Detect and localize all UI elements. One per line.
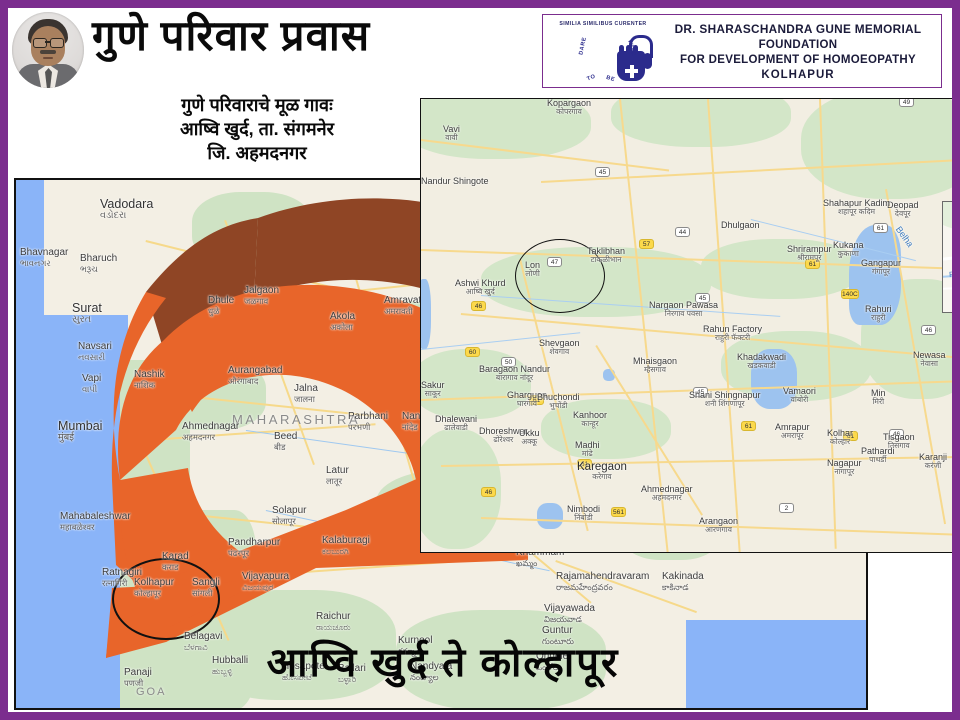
- map-label: Rajamahendravaramరాజమహేంద్రవరం: [556, 572, 649, 591]
- map-label-kolhapur: Kolhapurकोल्हापूर: [134, 578, 174, 597]
- district-label: Kukanaकुकाणा: [833, 241, 864, 258]
- district-label: Pathardiपाथर्डी: [861, 447, 895, 464]
- district-label: Amrapurअमरापूर: [775, 423, 810, 440]
- map-label: Mahabaleshwarमहाबळेश्वर: [60, 512, 131, 531]
- map-label: Beedबीड: [274, 432, 297, 451]
- map-label: Dhuleधुळे: [208, 296, 234, 315]
- district-label: Kanhoorकान्हूर: [573, 411, 607, 428]
- district-label: Gangapurगंगापूर: [861, 259, 901, 276]
- district-label: Karanjiकरंजी: [919, 453, 947, 470]
- map-label: Pandharpurपंढरपूर: [228, 538, 280, 557]
- map-label: Vijayapuraವಿಜಯಪುರ: [242, 572, 289, 591]
- district-label: Shevgaonशेवगाव: [539, 339, 580, 356]
- district-label: Bhuchondiभुचोंडी: [537, 393, 580, 410]
- highway-shield: 140C: [841, 289, 859, 299]
- highway-shield: 61: [741, 421, 756, 431]
- district-label: Vamaoriवांबोरी: [783, 387, 816, 404]
- district-label: Dhulgaon: [721, 221, 760, 230]
- map-label: Raichurರಾಯಚೂರು: [316, 612, 351, 631]
- highway-shield: 49: [899, 98, 914, 107]
- state-label-maharashtra: MAHARASHTRA: [232, 412, 360, 427]
- emblem-motto-latin: SIMILIA SIMILIBUS CURENTER: [551, 21, 655, 27]
- highway-shield: 60: [465, 347, 480, 357]
- foundation-emblem-icon: SIMILIA SIMILIBUS CURENTER DARE TO BE WI…: [549, 19, 657, 83]
- map-label: Kakinadaకాకినాడ: [662, 572, 704, 591]
- district-label: Minमिरी: [871, 389, 886, 406]
- district-label: Shahapur Kadimशहापूर कदिम: [823, 199, 890, 216]
- map-label: Jalgaonजळगाव: [244, 286, 279, 305]
- map-label: Bharuchભરૂચ: [80, 254, 117, 273]
- highway-shield: 561: [611, 507, 626, 517]
- emblem-word-to: TO: [586, 74, 596, 83]
- foundation-line-2: FOUNDATION: [661, 38, 935, 53]
- district-label: Nandur Shingote: [421, 177, 489, 186]
- map-label: Vadodaraવડોદરા: [100, 198, 153, 221]
- map-label: Akolaअकोला: [330, 312, 355, 331]
- district-label: Sakurसाकूर: [421, 381, 445, 398]
- district-label: Deopadदेवपूर: [887, 201, 919, 218]
- map-label: Vapiવાપી: [82, 374, 101, 393]
- district-label: Mhaisgaonम्हैसगाव: [633, 357, 677, 374]
- district-label: Rahuriराहुरी: [865, 305, 892, 322]
- district-label: Taklibhanटाकळीभान: [587, 247, 625, 264]
- street-inset-map[interactable]: clinic ashwi bk श्री साई डेंटल क्लिनिक..…: [942, 201, 952, 313]
- header: गुणे परिवार प्रवास गुणे परिवाराचे मूळ गा…: [8, 8, 952, 96]
- map-label: Nashikनाशिक: [134, 370, 165, 389]
- highway-shield: 2: [779, 503, 794, 513]
- map-label: Laturलातूर: [326, 466, 349, 485]
- subtitle-block: गुणे परिवाराचे मूळ गावः आष्वि खुर्द, ता.…: [92, 94, 422, 165]
- district-label: Shani Shingnapurशनी शिंगणापूर: [689, 391, 761, 408]
- highway-shield: 61: [873, 223, 888, 233]
- subtitle-line-2: आष्वि खुर्द, ता. संगमनेर: [92, 118, 422, 142]
- district-label-ahmednagar: Karegaonकरेगाव: [577, 461, 627, 481]
- map-label: Vijayawadaవిజయవాడ: [544, 604, 595, 623]
- district-label: Kopargaonकोपरगाव: [547, 99, 591, 116]
- page-title: गुणे परिवार प्रवास: [92, 14, 522, 58]
- bottom-caption: आष्वि खुर्द ते कोल्हापूर: [16, 633, 868, 688]
- foundation-line-3: FOR DEVELOPMENT OF HOMOEOPATHY: [661, 53, 935, 68]
- foundation-line-1: DR. SHARASCHANDRA GUNE MEMORIAL: [661, 22, 935, 38]
- map-label: Sangliसांगली: [192, 578, 220, 597]
- highway-shield: 46: [481, 487, 496, 497]
- map-label: Mumbaiमुंबई: [58, 420, 102, 443]
- district-label-ashwi-khurd: Lonलोणी: [525, 261, 540, 278]
- subtitle-line-3: जि. अहमदनगर: [92, 142, 422, 166]
- district-label: Ukkuअक्कू: [519, 429, 540, 446]
- avatar: [12, 12, 84, 88]
- district-label: Ashwi Khurdआष्वि खुर्द: [455, 279, 506, 296]
- map-label: Solapurसोलापूर: [272, 506, 306, 525]
- district-label: Nargaon Pawasaनिरगाव पवसा: [649, 301, 718, 318]
- district-label: Newasaनेवासा: [913, 351, 946, 368]
- map-label: Parbhaniपरभणी: [348, 412, 388, 431]
- highway-shield: 46: [921, 325, 936, 335]
- map-label: Navsariનવસારી: [78, 342, 112, 361]
- district-label: Madhiमांढे: [575, 441, 600, 458]
- foundation-name: DR. SHARASCHANDRA GUNE MEMORIAL FOUNDATI…: [661, 22, 935, 83]
- foundation-line-4: KOLHAPUR: [661, 68, 935, 83]
- map-label: Aurangabadऔरंगाबाद: [228, 366, 283, 385]
- map-label: Kalaburagiಕಲಬುರಗಿ: [322, 536, 370, 555]
- map-label: Ahmednagarअहमदनगर: [182, 422, 239, 441]
- district-label: Baragaon Nandurबारागाव नांदूर: [479, 365, 550, 382]
- district-label: Dhalewaniढालेवाडी: [435, 415, 477, 432]
- highway-shield: 44: [675, 227, 690, 237]
- district-label: Rahun Factoryराहुरी फॅक्टरी: [703, 325, 762, 342]
- highway-shield: 46: [471, 301, 486, 311]
- map-label: Jalnaजालना: [294, 384, 318, 403]
- district-label: Kolharकोल्हार: [827, 429, 853, 446]
- subtitle-line-1: गुणे परिवाराचे मूळ गावः: [92, 94, 422, 118]
- district-map[interactable]: 45 57 44 47 60 50 61 45 140C 45 46 61 61…: [420, 98, 952, 553]
- district-label: Ahmednagarअहमदनगर: [641, 485, 693, 502]
- highway-shield: 45: [595, 167, 610, 177]
- map-label: Suratસુરત: [72, 302, 102, 325]
- map-label: Bhavnagarભાવનગર: [20, 248, 68, 267]
- foundation-logo-box: SIMILIA SIMILIBUS CURENTER DARE TO BE WI…: [542, 14, 942, 88]
- district-label: Arangaonआरणगाव: [699, 517, 738, 534]
- district-label: Vaviवावी: [443, 125, 460, 142]
- poster-inner: गुणे परिवार प्रवास गुणे परिवाराचे मूळ गा…: [8, 8, 952, 712]
- district-label: Shrirampurश्रीरामपूर: [787, 245, 832, 262]
- district-label: Nimbodiनिंबोडी: [567, 505, 600, 522]
- highway-shield: 57: [639, 239, 654, 249]
- map-label: Amravatiअमरावती: [384, 296, 423, 315]
- poster-root: गुणे परिवार प्रवास गुणे परिवाराचे मूळ गा…: [0, 0, 960, 720]
- map-label: Karadकराड: [162, 552, 189, 571]
- district-label: Khadakwadiखडकवाडी: [737, 353, 786, 370]
- district-label: Nagapurनागापूर: [827, 459, 862, 476]
